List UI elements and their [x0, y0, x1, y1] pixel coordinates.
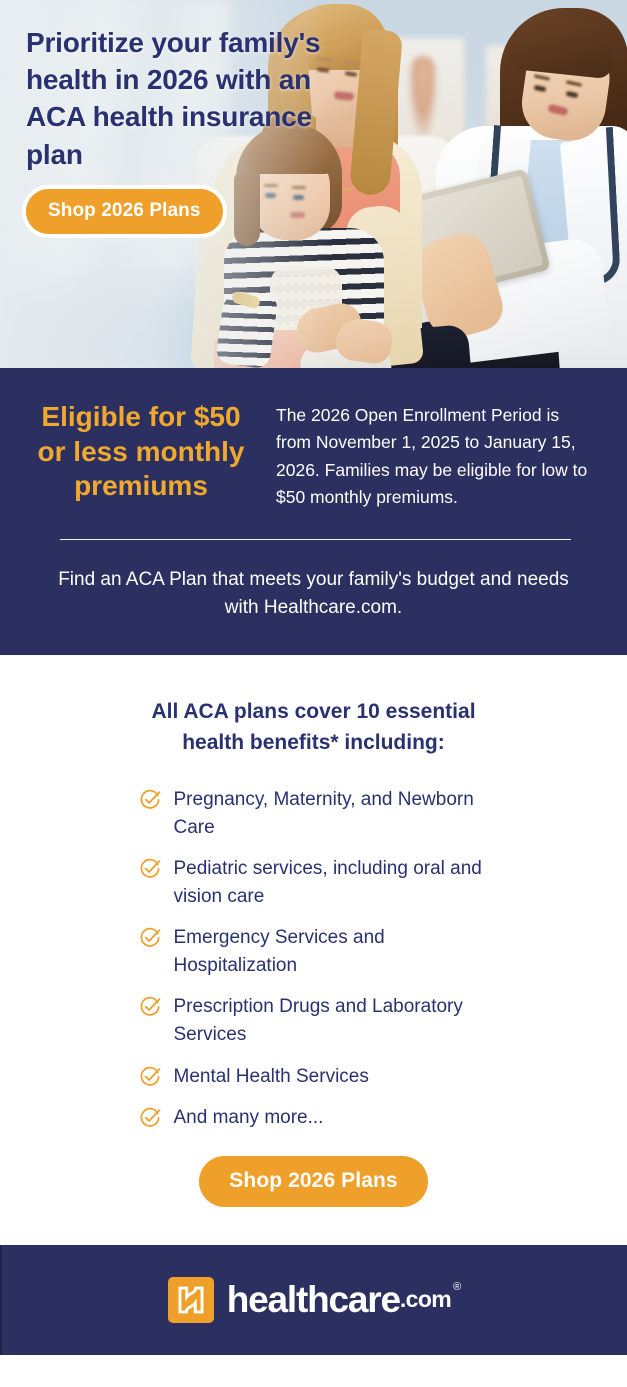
shop-plans-button-hero[interactable]: Shop 2026 Plans [26, 189, 223, 234]
eligible-heading: Eligible for $50 or less monthly premium… [26, 398, 256, 504]
shop-plans-button-footer[interactable]: Shop 2026 Plans [199, 1156, 427, 1207]
footer-bar: healthcare .com ® [0, 1245, 627, 1355]
benefit-label: And many more... [174, 1104, 324, 1132]
check-circle-icon [139, 858, 161, 880]
list-item: Pediatric services, including oral and v… [139, 855, 489, 910]
check-circle-icon [139, 789, 161, 811]
logo-tld: .com [400, 1288, 451, 1311]
benefits-heading: All ACA plans cover 10 essential health … [124, 697, 504, 758]
list-item: Mental Health Services [139, 1063, 489, 1091]
check-circle-icon [139, 996, 161, 1018]
hero-section: Prioritize your family's health in 2026 … [0, 0, 627, 368]
benefits-section: All ACA plans cover 10 essential health … [0, 655, 627, 1244]
check-circle-icon [139, 927, 161, 949]
check-circle-icon [139, 1066, 161, 1088]
hero-content: Prioritize your family's health in 2026 … [26, 24, 326, 234]
offer-band-columns: Eligible for $50 or less monthly premium… [0, 398, 627, 511]
benefit-label: Pregnancy, Maternity, and Newborn Care [174, 786, 489, 841]
registered-trademark-icon: ® [453, 1282, 461, 1293]
list-item: Prescription Drugs and Laboratory Servic… [139, 993, 489, 1048]
offer-band-divider [60, 539, 571, 540]
hero-cta-wrap: Shop 2026 Plans [26, 189, 326, 234]
healthcare-h-monogram-icon [168, 1277, 214, 1323]
find-plan-text: Find an ACA Plan that meets your family'… [44, 566, 584, 621]
list-item: And many more... [139, 1104, 489, 1132]
enrollment-period-text: The 2026 Open Enrollment Period is from … [256, 398, 597, 511]
ad-banner: Prioritize your family's health in 2026 … [0, 0, 627, 1387]
logo-wordmark: healthcare [227, 1281, 400, 1318]
hero-headline: Prioritize your family's health in 2026 … [26, 24, 326, 173]
benefits-cta-wrap: Shop 2026 Plans [0, 1156, 627, 1245]
benefit-label: Pediatric services, including oral and v… [174, 855, 489, 910]
list-item: Emergency Services and Hospitalization [139, 924, 489, 979]
benefits-list: Pregnancy, Maternity, and Newborn Care P… [139, 786, 489, 1131]
benefit-label: Mental Health Services [174, 1063, 369, 1091]
offer-band: Eligible for $50 or less monthly premium… [0, 368, 627, 655]
list-item: Pregnancy, Maternity, and Newborn Care [139, 786, 489, 841]
check-circle-icon [139, 1107, 161, 1129]
healthcare-logo[interactable]: healthcare .com ® [168, 1277, 462, 1323]
benefit-label: Prescription Drugs and Laboratory Servic… [174, 993, 489, 1048]
benefit-label: Emergency Services and Hospitalization [174, 924, 489, 979]
